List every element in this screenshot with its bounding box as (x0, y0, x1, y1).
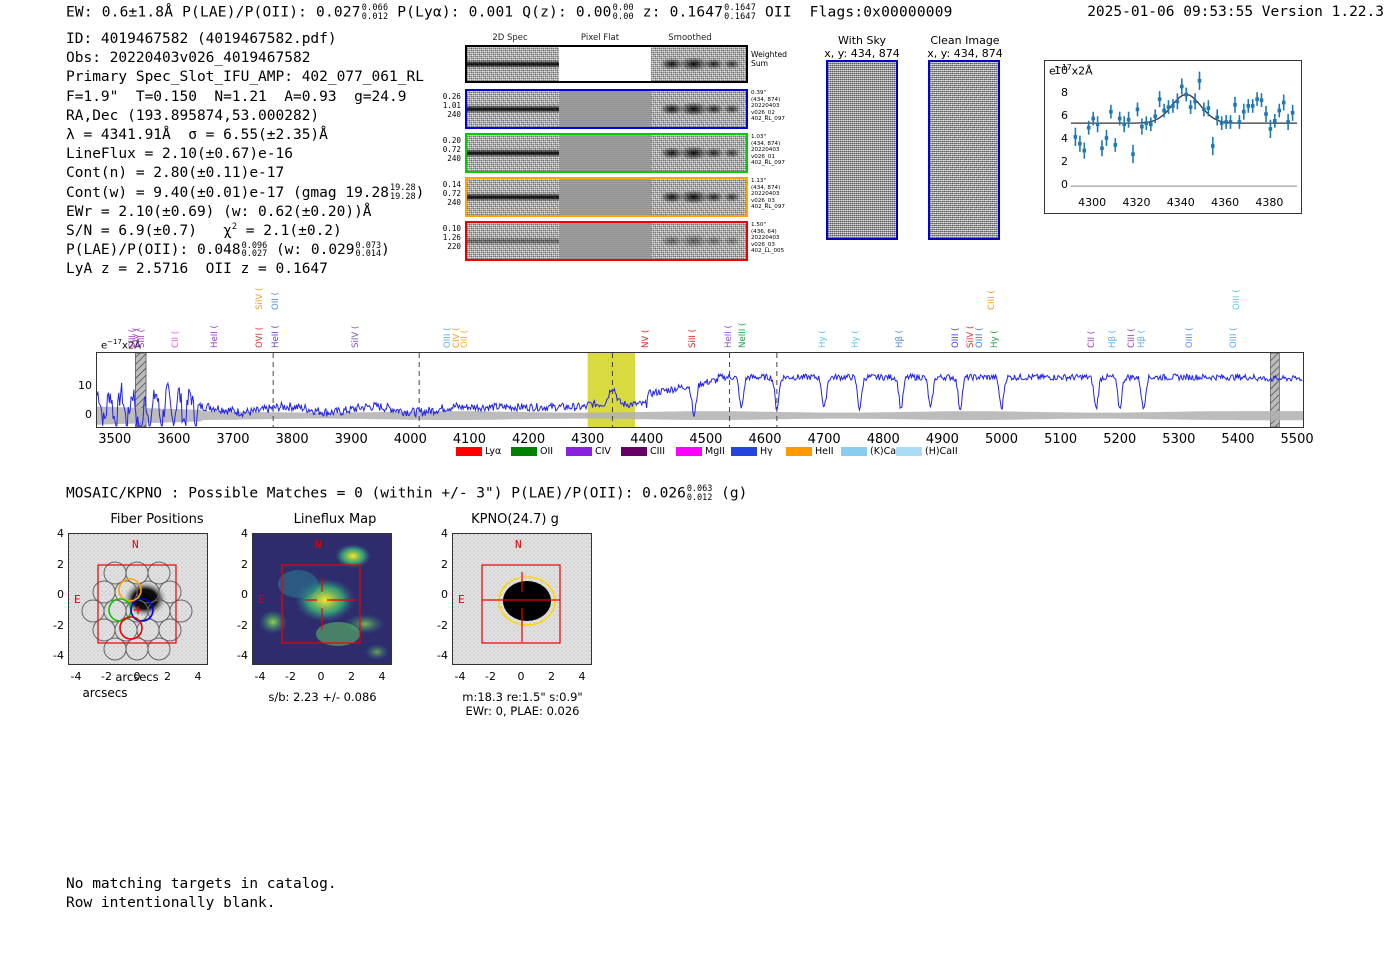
spectrum-xtick: 4500 (689, 432, 722, 447)
legend-item: Hγ (731, 446, 773, 457)
row-1-label-c: 240 (435, 155, 461, 163)
panel-xtick: 2 (548, 670, 555, 683)
legend-swatch (566, 447, 592, 456)
lineflux-compass-n: N (315, 538, 322, 551)
panel-ytick: 4 (44, 527, 64, 540)
legend-item: CIII (621, 446, 665, 457)
fiber-row-0[interactable] (465, 89, 748, 129)
legend-swatch (786, 447, 812, 456)
legend-item: (K)CaII (841, 446, 902, 457)
panel-ytick: -2 (44, 619, 64, 632)
row-2-label-c: 240 (435, 199, 461, 207)
panel-ytick: -2 (428, 619, 448, 632)
spectral-line-label: Hβ ( (895, 330, 905, 348)
fiber-row-1-2dspec (467, 135, 559, 171)
spectral-line-label: NV ( (641, 330, 651, 348)
spectral-line-label: CIII ( (987, 290, 997, 310)
lineflux-map-image[interactable] (252, 533, 392, 665)
linefit-ytick: 8 (1052, 86, 1068, 99)
spectral-line-label: OIII ( (1232, 290, 1242, 310)
panel-ytick: 0 (428, 588, 448, 601)
weighted-sum-pixelflat (559, 47, 651, 81)
header-timestamp: 2025-01-06 09:53:55 Version 1.22.3 (1087, 4, 1384, 20)
fiber-row-1-meta: 1.03"(434, 874) 20220403v026_01 402_RL_0… (751, 134, 785, 167)
mosaic-plae-fraction: 0.0630.012 (687, 485, 713, 502)
spectral-line-label: Hβ ( (1108, 330, 1118, 348)
header-summary: EW: 0.6±1.8Å P(LAE)/P(OII): 0.0270.0660.… (66, 4, 953, 21)
column-title-2dspec: 2D Spec (465, 33, 555, 43)
fiber-row-2-pixelflat (559, 179, 651, 215)
kpno-caption-2: EWr: 0, PLAE: 0.026 (435, 704, 610, 718)
fiber-compass-e: E (74, 593, 81, 606)
cutout-clean-coords: x, y: 434, 874 (910, 47, 1020, 60)
legend-item: MgII (676, 446, 725, 457)
spectral-line-label: CII ( (171, 331, 181, 348)
spectrum-xtick: 4200 (512, 432, 545, 447)
panel-xtick: -2 (485, 670, 496, 683)
fiber-positions-image[interactable] (68, 533, 208, 665)
kpno-caption-1: m:18.3 re:1.5" s:0.9" (435, 690, 610, 704)
mosaic-header-filter: (g) (721, 486, 747, 502)
legend-item: Lyα (456, 446, 501, 457)
spectral-line-label: OIII ( (951, 328, 961, 348)
panel-ytick: 4 (228, 527, 248, 540)
cutout-with-sky-image[interactable] (826, 60, 898, 240)
spectral-line-label: SiIV ( (255, 288, 265, 310)
spectrum-xtick: 5200 (1103, 432, 1136, 447)
header-qz: Q(z): 0.00 (522, 5, 611, 21)
panel-ytick: -4 (428, 649, 448, 662)
fiber-compass-n: N (132, 538, 139, 551)
linefit-ytick: 4 (1052, 132, 1068, 145)
weighted-sum-row (465, 45, 748, 83)
legend-label: OII (540, 446, 553, 457)
info-redshifts: LyA z = 2.5716 OII z = 0.1647 (66, 260, 424, 279)
panel-xtick: 4 (195, 670, 202, 683)
fiber-row-1-smoothed (651, 135, 746, 171)
info-obs: Obs: 20220403v026_4019467582 (66, 49, 424, 68)
legend-item: (H)CaII (896, 446, 958, 457)
cutout-clean-title: Clean Image x, y: 434, 874 (910, 34, 1020, 60)
fiber-row-0-smoothed (651, 91, 746, 127)
lineflux-compass-e: E (258, 593, 265, 606)
panel-title-kpno: KPNO(24.7) g (420, 512, 610, 527)
panel-xtick: 0 (318, 670, 325, 683)
info-snr: S/N = 6.9(±0.7) χ2 = 2.1(±0.2) (66, 222, 424, 241)
spectral-line-label: Hy ( (818, 330, 828, 348)
fiber-row-3-2dspec (467, 223, 559, 259)
cutout-clean-title-text: Clean Image (910, 34, 1020, 47)
spectrum-xtick: 3700 (216, 432, 249, 447)
linefit-ytick: 2 (1052, 155, 1068, 168)
panel-ytick: 2 (428, 558, 448, 571)
header-plya: P(Lyα): 0.001 (397, 5, 513, 21)
plae-line-fraction: 0.0960.027 (242, 242, 268, 259)
info-id: ID: 4019467582 (4019467582.pdf) (66, 30, 424, 49)
mosaic-header-text: MOSAIC/KPNO : Possible Matches = 0 (with… (66, 486, 686, 502)
legend-item: OII (511, 446, 553, 457)
plae-fraction: 0.0660.012 (362, 4, 389, 21)
linefit-xtick: 4320 (1122, 196, 1150, 209)
legend-swatch (896, 447, 922, 456)
legend-swatch (841, 447, 867, 456)
panel-ytick: -4 (228, 649, 248, 662)
panel-xtick: 4 (379, 670, 386, 683)
panel-ytick: 0 (228, 588, 248, 601)
fiber-row-0-pixelflat (559, 91, 651, 127)
fiber-row-3[interactable] (465, 221, 748, 261)
panel-xtick: 2 (164, 670, 171, 683)
panel-xtick: 0 (134, 670, 141, 683)
header-flags: Flags:0x00000009 (810, 5, 953, 21)
info-primary-spec: Primary Spec_Slot_IFU_AMP: 402_077_061_R… (66, 68, 424, 87)
fiber-row-0-2dspec (467, 91, 559, 127)
spectrum-xtick: 4800 (867, 432, 900, 447)
spectrum-xtick: 3500 (98, 432, 131, 447)
spectral-line-label: SiII ( (688, 329, 698, 348)
legend-label: Lyα (485, 446, 501, 457)
fiber-row-0-meta: 0.39"(434, 874) 20220403v026_02 402_RL_0… (751, 90, 785, 123)
info-ewr: EWr = 2.10(±0.69) (w: 0.62(±0.20))Å (66, 203, 424, 222)
spectrum-xtick: 5400 (1221, 432, 1254, 447)
fiber-positions-arcsecs-label: arcsecs (82, 686, 127, 700)
linefit-xtick: 4300 (1078, 196, 1106, 209)
spectrum-xtick: 5000 (985, 432, 1018, 447)
spectral-line-label: CII ( (1087, 331, 1097, 348)
z-fraction: 0.16470.1647 (724, 4, 756, 21)
fiber-row-3-pixelflat (559, 223, 651, 259)
fiber-row-2-2dspec (467, 179, 559, 215)
plae-line-w-fraction: 0.0730.014 (356, 242, 382, 259)
kpno-image[interactable] (452, 533, 592, 665)
row-3-label-c: 220 (435, 243, 461, 251)
panel-xtick: -2 (101, 670, 112, 683)
info-lineflux: LineFlux = 2.10(±0.67)e-16 (66, 145, 424, 164)
panel-xtick: -2 (285, 670, 296, 683)
weighted-sum-label: Weighted Sum (751, 51, 787, 68)
panel-xtick: 4 (579, 670, 586, 683)
linefit-ytick: 10 (1052, 64, 1068, 77)
linefit-xtick: 4360 (1211, 196, 1239, 209)
fiber-row-3-meta: 1.50"(436, 64) 20220403v026_03 402_LL_00… (751, 222, 784, 255)
fiber-row-3-smoothed (651, 223, 746, 259)
spectrum-xtick: 4100 (453, 432, 486, 447)
panel-ytick: -2 (228, 619, 248, 632)
panel-xtick: -4 (71, 670, 82, 683)
spectrum-xtick: 4300 (571, 432, 604, 447)
panel-xtick: 0 (518, 670, 525, 683)
mosaic-header: MOSAIC/KPNO : Possible Matches = 0 (with… (66, 485, 747, 502)
spectral-line-label: HeII ( (724, 325, 734, 348)
spectral-line-label: HeII ( (271, 325, 281, 348)
column-title-smoothed: Smoothed (645, 33, 735, 43)
panel-ytick: 2 (44, 558, 64, 571)
cutout-with-sky-title: With Sky x, y: 434, 874 (812, 34, 912, 60)
spectral-line-label: CIII ( (1127, 328, 1137, 348)
linefit-ytick: 0 (1052, 178, 1068, 191)
cutout-with-sky-coords: x, y: 434, 874 (812, 47, 912, 60)
spectrum-xtick: 3800 (276, 432, 309, 447)
fiber-row-1[interactable] (465, 133, 748, 173)
spectral-line-label: OII ( (460, 330, 470, 348)
panel-ytick: 4 (428, 527, 448, 540)
qz-fraction: 0.000.00 (613, 4, 634, 21)
spectral-line-label: SiIV ( (351, 326, 361, 348)
legend-label: (H)CaII (925, 446, 958, 457)
linefit-xtick: 4380 (1255, 196, 1283, 209)
panel-xtick: -4 (255, 670, 266, 683)
column-title-pixelflat: Pixel Flat (555, 33, 645, 43)
spectral-line-label: SiII ( (137, 329, 147, 348)
weighted-sum-smoothed (651, 47, 746, 81)
info-radec: RA,Dec (193.895874,53.000282) (66, 107, 424, 126)
legend-swatch (511, 447, 537, 456)
cutout-clean-image[interactable] (928, 60, 1000, 240)
panel-title-lineflux-map: Lineflux Map (240, 512, 430, 527)
spectral-line-label: OII ( (271, 292, 281, 310)
spectrum-xtick: 5300 (1162, 432, 1195, 447)
legend-item: CIV (566, 446, 611, 457)
legend-item: HeII (786, 446, 834, 457)
spectrum-ytick: 10 (70, 379, 92, 392)
legend-swatch (731, 447, 757, 456)
lineflux-map-caption: s/b: 2.23 +/- 0.086 (250, 690, 395, 704)
panel-xtick: -4 (455, 670, 466, 683)
legend-label: CIII (650, 446, 665, 457)
cutout-with-sky-title-text: With Sky (812, 34, 912, 47)
spectrum-xtick: 3900 (335, 432, 368, 447)
fiber-row-2-meta: 1.13"(434, 874) 20220403v026_03 402_RL_0… (751, 178, 785, 211)
info-plae: P(LAE)/P(OII): 0.0480.0960.027 (w: 0.029… (66, 241, 424, 260)
header-ew-plae: EW: 0.6±1.8Å P(LAE)/P(OII): 0.027 (66, 5, 361, 21)
legend-swatch (676, 447, 702, 456)
spectrum-xtick: 5500 (1281, 432, 1314, 447)
spectral-line-label: Hy ( (990, 330, 1000, 348)
spectrum-xtick: 4600 (748, 432, 781, 447)
legend-swatch (456, 447, 482, 456)
panel-xtick: 2 (348, 670, 355, 683)
legend-swatch (621, 447, 647, 456)
legend-label: CIV (595, 446, 611, 457)
panel-ytick: -4 (44, 649, 64, 662)
fiber-row-2[interactable] (465, 177, 748, 217)
object-info-block: ID: 4019467582 (4019467582.pdf) Obs: 202… (66, 30, 424, 280)
legend-label: HeII (815, 446, 834, 457)
panel-ytick: 0 (44, 588, 64, 601)
fiber-row-1-pixelflat (559, 135, 651, 171)
spectral-line-label: OIII ( (1185, 328, 1195, 348)
panel-ytick: 2 (228, 558, 248, 571)
spectral-line-label: HeII ( (210, 325, 220, 348)
gmag-fraction: 19.2819.28 (390, 184, 416, 201)
spectrum-xtick: 5100 (1044, 432, 1077, 447)
spectral-line-label: Hy ( (851, 330, 861, 348)
row-0-label-c: 240 (435, 111, 461, 119)
info-seeing: F=1.9" T=0.150 N=1.21 A=0.93 g=24.9 (66, 88, 424, 107)
header-z-suffix: OII (765, 5, 792, 21)
spectrum-xtick: 3600 (157, 432, 190, 447)
spectral-line-label: OIII ( (975, 328, 985, 348)
spectrum-ytick: 0 (70, 408, 92, 421)
linefit-xtick: 4340 (1167, 196, 1195, 209)
linefit-ytick: 6 (1052, 109, 1068, 122)
spectral-line-label: Hβ ( (1137, 330, 1147, 348)
footer-note: No matching targets in catalog. Row inte… (66, 875, 337, 913)
spectral-line-label: OVI ( (255, 327, 265, 348)
spectrum-xtick: 4700 (808, 432, 841, 447)
panel-title-fiber-positions: Fiber Positions (62, 512, 252, 527)
kpno-compass-n: N (515, 538, 522, 551)
legend-label: Hγ (760, 446, 773, 457)
kpno-compass-e: E (458, 593, 465, 606)
legend-label: MgII (705, 446, 725, 457)
spectrum-xtick: 4900 (926, 432, 959, 447)
spectrum-xtick: 4000 (394, 432, 427, 447)
spectral-line-label: NeIII ( (738, 323, 748, 348)
emission-line-fit-plot[interactable] (1044, 60, 1302, 214)
weighted-sum-2dspec (467, 47, 559, 81)
info-wavelength: λ = 4341.91Å σ = 6.55(±2.35)Å (66, 126, 424, 145)
spec2d-panel: 2D Spec Pixel Flat Smoothed Weighted Sum… (437, 33, 767, 248)
fiber-row-2-smoothed (651, 179, 746, 215)
header-z: z: 0.1647 (643, 5, 723, 21)
spectral-line-label: OIII ( (1229, 328, 1239, 348)
spectrum-xtick: 4400 (630, 432, 663, 447)
info-cont-n: Cont(n) = 2.80(±0.11)e-17 (66, 164, 424, 183)
info-cont-w: Cont(w) = 9.40(±0.01)e-17 (gmag 19.2819.… (66, 184, 424, 203)
full-spectrum-plot[interactable] (96, 352, 1304, 428)
